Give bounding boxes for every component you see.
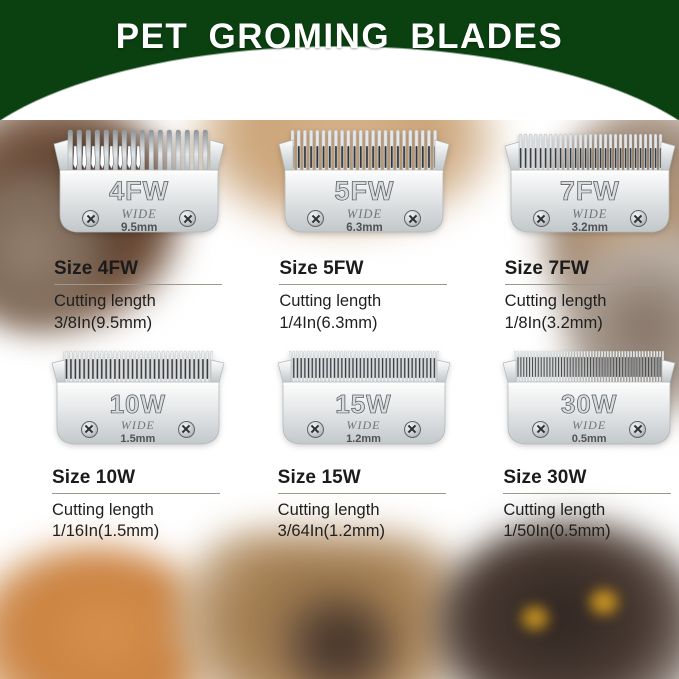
blade-teeth-fine-5fw bbox=[293, 126, 435, 176]
caption-line-1: Cutting length bbox=[279, 291, 453, 313]
blade-wide-text: WIDE bbox=[503, 207, 677, 222]
caption-line-2: 1/8In(3.2mm) bbox=[505, 313, 679, 335]
screw-icon-right bbox=[178, 421, 195, 438]
screw-icon-right bbox=[629, 421, 646, 438]
blade-wide-text: WIDE bbox=[277, 418, 451, 433]
caption-divider bbox=[279, 284, 447, 285]
blade-image-10w: 10W WIDE 1.5mm bbox=[48, 349, 228, 467]
caption-5fw: Size 5FW Cutting length 1/4In(6.3mm) bbox=[275, 258, 453, 335]
blade-image-15w: 15W WIDE 1.2mm bbox=[274, 349, 454, 467]
caption-line-2: 1/50In(0.5mm) bbox=[503, 521, 679, 543]
screw-icon-left bbox=[532, 421, 549, 438]
caption-7fw: Size 7FW Cutting length 1/8In(3.2mm) bbox=[501, 258, 679, 335]
screw-icon-left bbox=[81, 421, 98, 438]
blade-teeth-fine-30w bbox=[516, 349, 662, 387]
blade-wide-text: WIDE bbox=[277, 207, 451, 222]
caption-title: Size 10W bbox=[52, 467, 228, 493]
product-cell-7fw[interactable]: 7FW WIDE 3.2mm Size 7FW Cutting length 1… bbox=[501, 126, 679, 335]
caption-15w: Size 15W Cutting length 3/64In(1.2mm) bbox=[274, 467, 454, 544]
infographic-root: PET GROMING BLADES bbox=[0, 0, 679, 679]
caption-divider bbox=[505, 284, 673, 285]
caption-title: Size 4FW bbox=[54, 258, 228, 284]
screw-icon-left bbox=[533, 210, 550, 227]
caption-title: Size 7FW bbox=[505, 258, 679, 284]
caption-title: Size 15W bbox=[278, 467, 454, 493]
caption-line-2: 3/64In(1.2mm) bbox=[278, 521, 454, 543]
blade-size-text: 4FW bbox=[52, 176, 226, 207]
blade-mm-text: 0.5mm bbox=[502, 433, 676, 445]
blade-image-30w: 30W WIDE 0.5mm bbox=[499, 349, 679, 467]
caption-title: Size 30W bbox=[503, 467, 679, 493]
product-cell-15w[interactable]: 15W WIDE 1.2mm Size 15W Cutting length 3… bbox=[274, 349, 454, 544]
caption-line-2: 1/4In(6.3mm) bbox=[279, 313, 453, 335]
caption-line-1: Cutting length bbox=[278, 500, 454, 522]
product-cell-30w[interactable]: 30W WIDE 0.5mm Size 30W Cutting length 1… bbox=[499, 349, 679, 544]
blade-mm-text: 1.5mm bbox=[51, 433, 225, 445]
blade-size-text: 7FW bbox=[503, 176, 677, 207]
caption-divider bbox=[278, 493, 446, 494]
blade-mm-text: 3.2mm bbox=[503, 222, 677, 234]
blade-teeth-fine-15w bbox=[291, 349, 437, 387]
blade-row-top: 4FW WIDE 9.5mm Size 4FW Cutting length 3… bbox=[0, 126, 679, 335]
product-cell-10w[interactable]: 10W WIDE 1.5mm Size 10W Cutting length 1… bbox=[48, 349, 228, 544]
blade-size-text: 15W bbox=[277, 389, 451, 420]
bg-blob-cat-eye-right bbox=[588, 588, 620, 616]
caption-10w: Size 10W Cutting length 1/16In(1.5mm) bbox=[48, 467, 228, 544]
screw-icon-right bbox=[404, 421, 421, 438]
bg-blob-tuxedo-cat bbox=[435, 520, 679, 679]
blade-grid: 4FW WIDE 9.5mm Size 4FW Cutting length 3… bbox=[0, 126, 679, 543]
caption-30w: Size 30W Cutting length 1/50In(0.5mm) bbox=[499, 467, 679, 544]
blade-row-bottom: 10W WIDE 1.5mm Size 10W Cutting length 1… bbox=[0, 349, 679, 544]
screw-icon-left bbox=[307, 421, 324, 438]
bg-blob-cat-eye-left bbox=[520, 605, 550, 631]
blade-image-5fw: 5FW WIDE 6.3mm bbox=[275, 126, 453, 258]
product-cell-4fw[interactable]: 4FW WIDE 9.5mm Size 4FW Cutting length 3… bbox=[50, 126, 228, 335]
caption-line-1: Cutting length bbox=[505, 291, 679, 313]
blade-wide-text: WIDE bbox=[502, 418, 676, 433]
blade-mm-text: 9.5mm bbox=[52, 222, 226, 234]
product-cell-5fw[interactable]: 5FW WIDE 6.3mm Size 5FW Cutting length 1… bbox=[275, 126, 453, 335]
blade-teeth-fine-7fw bbox=[519, 126, 661, 176]
caption-line-1: Cutting length bbox=[52, 500, 228, 522]
screw-icon-right bbox=[630, 210, 647, 227]
blade-teeth-fine-10w bbox=[65, 349, 211, 387]
caption-4fw: Size 4FW Cutting length 3/8In(9.5mm) bbox=[50, 258, 228, 335]
blade-mm-text: 1.2mm bbox=[277, 433, 451, 445]
caption-title: Size 5FW bbox=[279, 258, 453, 284]
blade-mm-text: 6.3mm bbox=[277, 222, 451, 234]
blade-wide-text: WIDE bbox=[52, 207, 226, 222]
caption-divider bbox=[52, 493, 220, 494]
blade-size-text: 5FW bbox=[277, 176, 451, 207]
caption-line-1: Cutting length bbox=[503, 500, 679, 522]
blade-size-text: 10W bbox=[51, 389, 225, 420]
blade-wide-text: WIDE bbox=[51, 418, 225, 433]
blade-image-7fw: 7FW WIDE 3.2mm bbox=[501, 126, 679, 258]
caption-divider bbox=[503, 493, 671, 494]
caption-line-2: 1/16In(1.5mm) bbox=[52, 521, 228, 543]
blade-image-4fw: 4FW WIDE 9.5mm bbox=[50, 126, 228, 258]
caption-line-1: Cutting length bbox=[54, 291, 228, 313]
blade-size-text: 30W bbox=[502, 389, 676, 420]
page-title: PET GROMING BLADES bbox=[0, 0, 679, 74]
caption-line-2: 3/8In(9.5mm) bbox=[54, 313, 228, 335]
caption-divider bbox=[54, 284, 222, 285]
